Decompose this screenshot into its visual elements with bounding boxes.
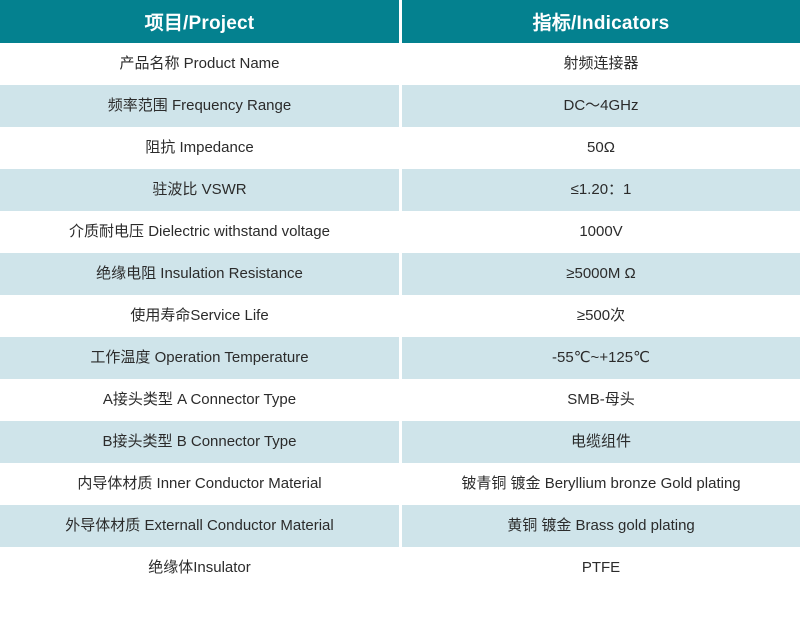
cell-indicator: 射频连接器 [402, 43, 800, 85]
table-row: 频率范围 Frequency RangeDC～4GHz [0, 85, 800, 127]
table-row: 绝缘电阻 Insulation Resistance≥5000M Ω [0, 253, 800, 295]
cell-indicator: DC～4GHz [402, 85, 800, 127]
cell-project: 绝缘体Insulator [0, 547, 402, 589]
cell-project: 使用寿命Service Life [0, 295, 402, 337]
cell-indicator: 黄铜 镀金 Brass gold plating [402, 505, 800, 547]
table-row: 工作温度 Operation Temperature-55℃~+125℃ [0, 337, 800, 379]
table-row: 外导体材质 Externall Conductor Material黄铜 镀金 … [0, 505, 800, 547]
table-row: 产品名称 Product Name射频连接器 [0, 43, 800, 85]
cell-project: A接头类型 A Connector Type [0, 379, 402, 421]
cell-project: 产品名称 Product Name [0, 43, 402, 85]
table-body: 产品名称 Product Name射频连接器频率范围 Frequency Ran… [0, 43, 800, 589]
table-row: B接头类型 B Connector Type电缆组件 [0, 421, 800, 463]
table-row: 驻波比 VSWR≤1.20：1 [0, 169, 800, 211]
cell-project: 工作温度 Operation Temperature [0, 337, 402, 379]
cell-indicator: ≤1.20：1 [402, 169, 800, 211]
cell-project: 内导体材质 Inner Conductor Material [0, 463, 402, 505]
header-row: 项目/Project 指标/Indicators [0, 0, 800, 43]
specification-table: 项目/Project 指标/Indicators 产品名称 Product Na… [0, 0, 800, 589]
cell-indicator: ≥5000M Ω [402, 253, 800, 295]
table-row: A接头类型 A Connector TypeSMB-母头 [0, 379, 800, 421]
cell-indicator: ≥500次 [402, 295, 800, 337]
cell-indicator: 1000V [402, 211, 800, 253]
cell-indicator: 铍青铜 镀金 Beryllium bronze Gold plating [402, 463, 800, 505]
table-row: 介质耐电压 Dielectric withstand voltage1000V [0, 211, 800, 253]
cell-indicator: -55℃~+125℃ [402, 337, 800, 379]
cell-indicator: 电缆组件 [402, 421, 800, 463]
cell-project: 阻抗 Impedance [0, 127, 402, 169]
table-bottom-spacer [0, 589, 800, 627]
table-row: 内导体材质 Inner Conductor Material铍青铜 镀金 Ber… [0, 463, 800, 505]
column-header-project: 项目/Project [0, 0, 402, 43]
cell-project: 介质耐电压 Dielectric withstand voltage [0, 211, 402, 253]
cell-indicator: 50Ω [402, 127, 800, 169]
table-row: 绝缘体InsulatorPTFE [0, 547, 800, 589]
table-row: 阻抗 Impedance50Ω [0, 127, 800, 169]
cell-project: 驻波比 VSWR [0, 169, 402, 211]
cell-project: B接头类型 B Connector Type [0, 421, 402, 463]
cell-indicator: SMB-母头 [402, 379, 800, 421]
table-header: 项目/Project 指标/Indicators [0, 0, 800, 43]
table-row: 使用寿命Service Life≥500次 [0, 295, 800, 337]
cell-project: 绝缘电阻 Insulation Resistance [0, 253, 402, 295]
column-header-indicator: 指标/Indicators [402, 0, 800, 43]
cell-indicator: PTFE [402, 547, 800, 589]
cell-project: 频率范围 Frequency Range [0, 85, 402, 127]
cell-project: 外导体材质 Externall Conductor Material [0, 505, 402, 547]
